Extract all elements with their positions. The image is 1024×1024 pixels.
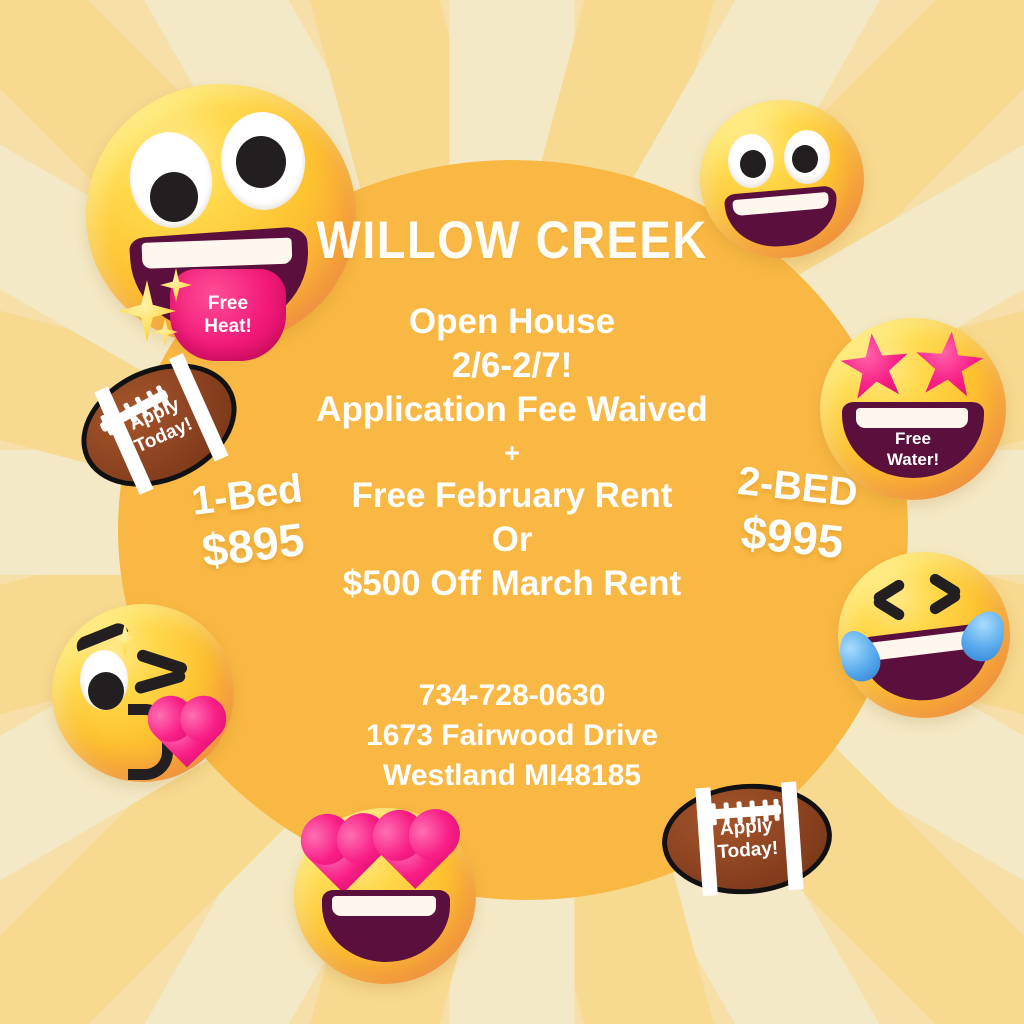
poster-content: WILLOW CREEK Open House 2/6-2/7! Applica…: [0, 0, 1024, 1024]
body-line-dates: 2/6-2/7!: [0, 344, 1024, 388]
free-water-line-2: Water!: [887, 450, 939, 469]
body-line-app-fee: Application Fee Waived: [0, 388, 1024, 432]
body-line-open-house: Open House: [0, 300, 1024, 344]
offer-body: Open House 2/6-2/7! Application Fee Waiv…: [0, 300, 1024, 606]
page-title: WILLOW CREEK: [0, 209, 1024, 271]
offer-line-free-rent: Free February Rent: [0, 474, 1024, 518]
free-water-line-1: Free: [895, 429, 931, 448]
contact-street: 1673 Fairwood Drive: [0, 716, 1024, 756]
offer-line-discount: $500 Off March Rent: [0, 562, 1024, 606]
contact-block: 734-728-0630 1673 Fairwood Drive Westlan…: [0, 676, 1024, 796]
plus-separator: +: [0, 432, 1024, 474]
contact-city-state-zip: Westland MI48185: [0, 756, 1024, 796]
free-water-label: Free Water!: [887, 428, 939, 478]
contact-phone[interactable]: 734-728-0630: [0, 676, 1024, 716]
promo-poster: Free Heat! Free Water!: [0, 0, 1024, 1024]
offer-line-or: Or: [0, 518, 1024, 562]
